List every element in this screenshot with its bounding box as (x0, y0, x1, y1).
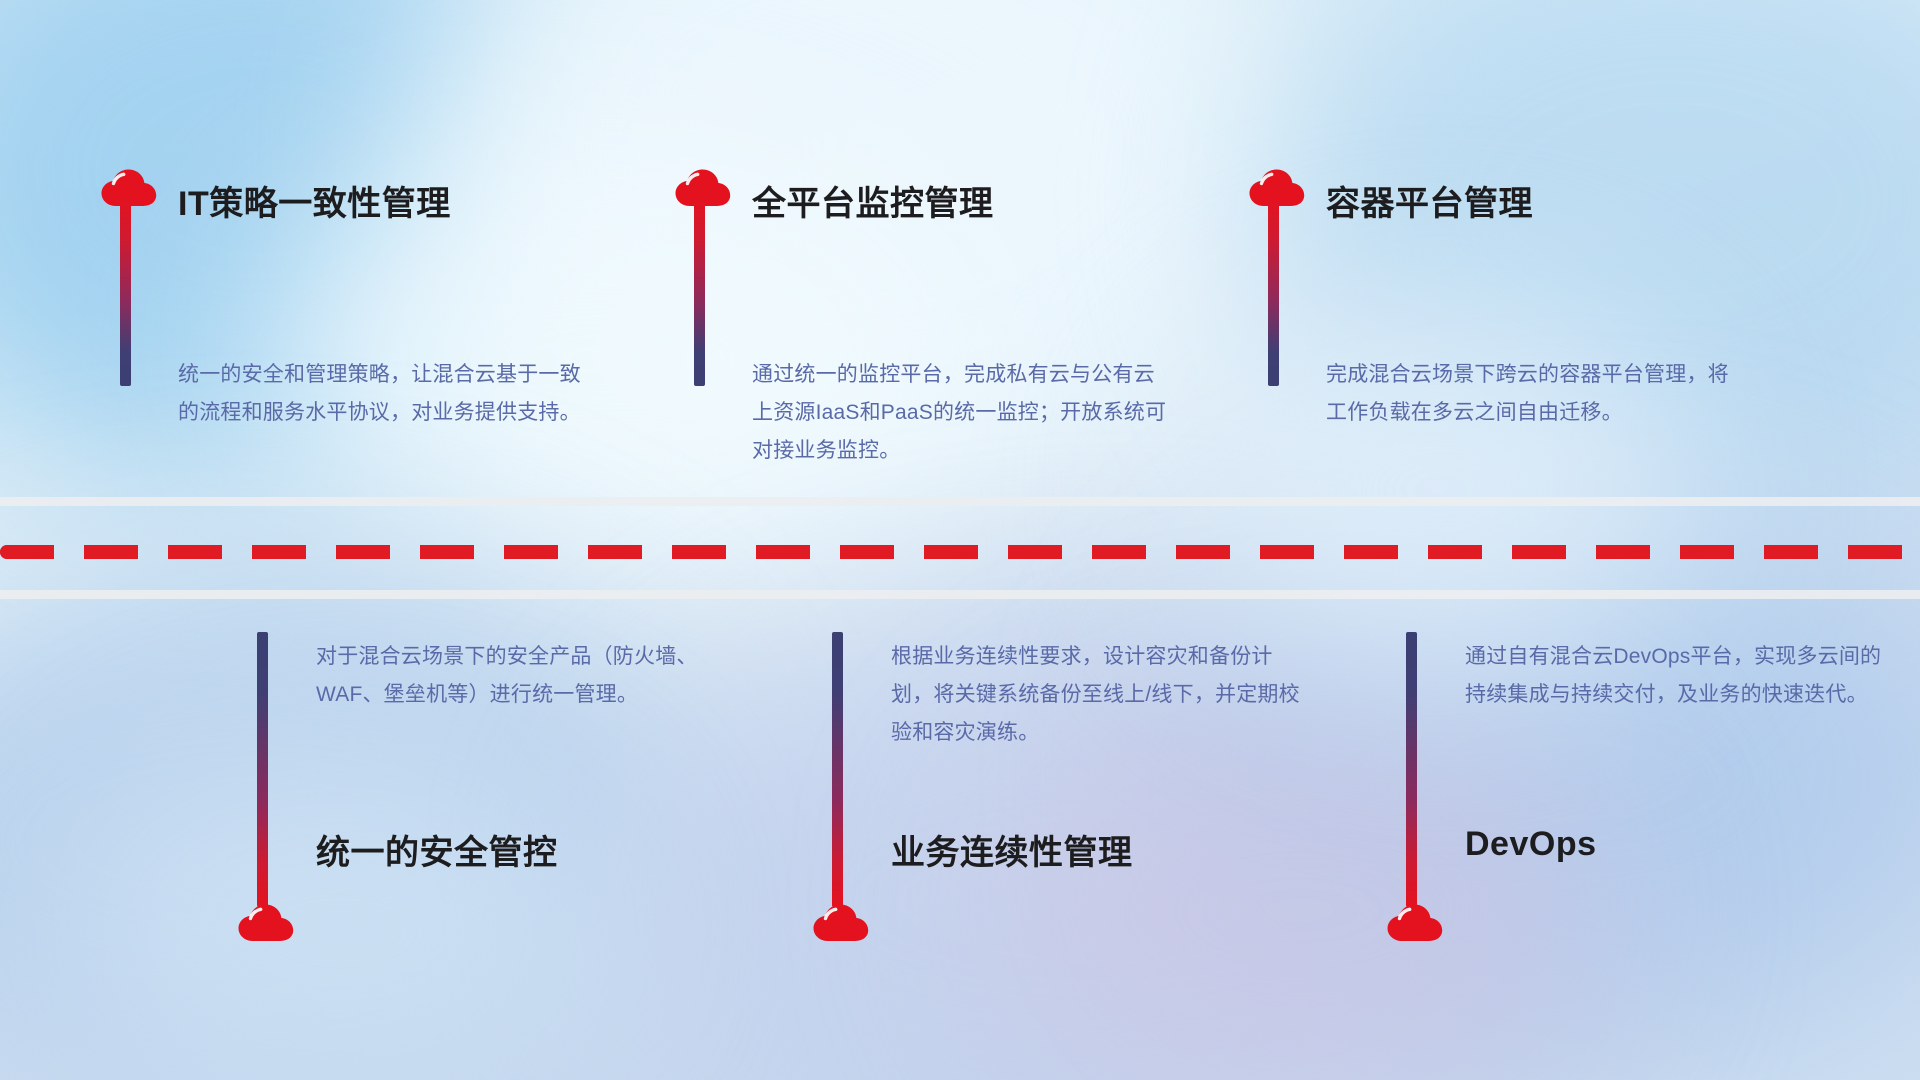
heading-top-2: 全平台监控管理 (752, 176, 994, 225)
dashed-divider (0, 545, 1920, 559)
heading-bottom-2: 业务连续性管理 (891, 825, 1133, 874)
heading-top-3: 容器平台管理 (1326, 176, 1533, 225)
cloud-icon (1384, 898, 1450, 942)
cloud-icon (235, 898, 301, 942)
cloud-icon (672, 163, 738, 207)
heading-bottom-1: 统一的安全管控 (316, 825, 558, 874)
body-top-3: 完成混合云场景下跨云的容器平台管理，将工作负载在多云之间自由迁移。 (1326, 356, 1746, 432)
infographic-canvas: IT策略一致性管理 统一的安全和管理策略，让混合云基于一致的流程和服务水平协议，… (0, 0, 1920, 1080)
divider-rail-top (0, 497, 1920, 506)
connector-line-bottom-3 (1406, 632, 1417, 907)
cloud-marker-bottom-2 (810, 898, 876, 942)
heading-bottom-3: DevOps (1465, 825, 1597, 864)
body-top-1: 统一的安全和管理策略，让混合云基于一致的流程和服务水平协议，对业务提供支持。 (178, 356, 598, 432)
connector-line-top-1 (120, 196, 131, 386)
cloud-icon (98, 163, 164, 207)
cloud-marker-top-1 (98, 163, 164, 207)
divider-rail-bottom (0, 590, 1920, 599)
cloud-marker-top-2 (672, 163, 738, 207)
cloud-marker-top-3 (1246, 163, 1312, 207)
connector-line-top-2 (694, 196, 705, 386)
body-bottom-1: 对于混合云场景下的安全产品（防火墙、WAF、堡垒机等）进行统一管理。 (316, 638, 736, 714)
body-top-2: 通过统一的监控平台，完成私有云与公有云上资源IaaS和PaaS的统一监控；开放系… (752, 356, 1172, 470)
cloud-icon (1246, 163, 1312, 207)
connector-line-bottom-2 (832, 632, 843, 907)
connector-line-top-3 (1268, 196, 1279, 386)
body-bottom-3: 通过自有混合云DevOps平台，实现多云间的持续集成与持续交付，及业务的快速迭代… (1465, 638, 1885, 714)
body-bottom-2: 根据业务连续性要求，设计容灾和备份计划，将关键系统备份至线上/线下，并定期校验和… (891, 638, 1311, 752)
connector-line-bottom-1 (257, 632, 268, 907)
cloud-icon (810, 898, 876, 942)
heading-top-1: IT策略一致性管理 (178, 176, 451, 225)
cloud-marker-bottom-1 (235, 898, 301, 942)
cloud-marker-bottom-3 (1384, 898, 1450, 942)
